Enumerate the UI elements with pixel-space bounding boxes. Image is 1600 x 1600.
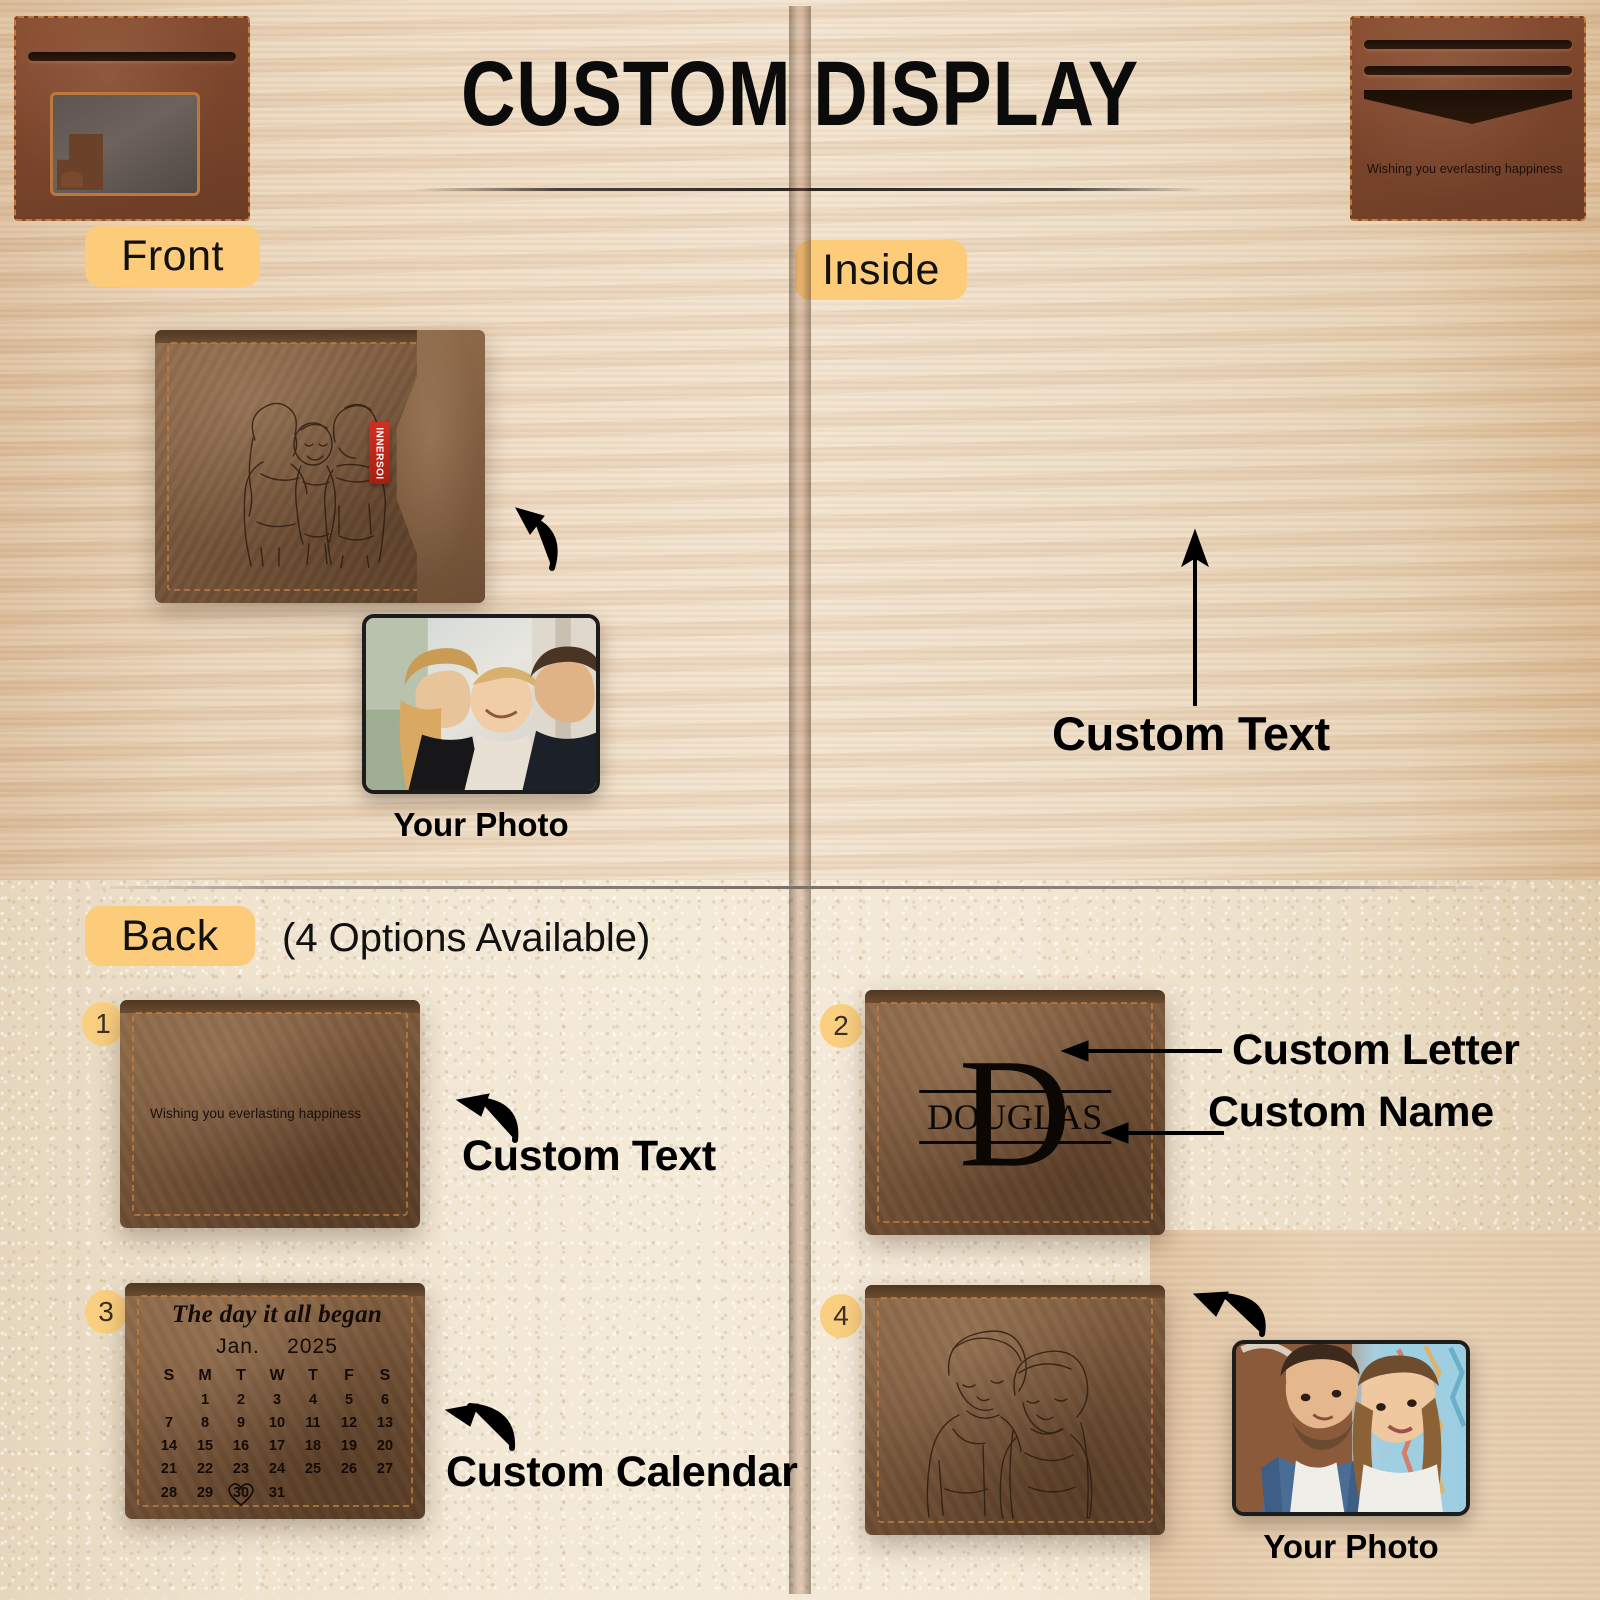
calendar-day: 14 xyxy=(151,1437,187,1455)
inside-engraved-text: Wishing you everlasting happiness xyxy=(1367,162,1563,176)
inside-callout-custom-text: Custom Text xyxy=(1052,706,1330,761)
engraved-couple-portrait xyxy=(905,1311,1113,1519)
arrow-custom-letter xyxy=(1062,1040,1222,1062)
calendar-day: 29 xyxy=(187,1484,223,1502)
calendar-day: 4 xyxy=(295,1391,331,1409)
calendar-day: 28 xyxy=(151,1484,187,1502)
card-slot xyxy=(1364,66,1572,75)
calendar-day: 10 xyxy=(259,1414,295,1432)
calendar-year: 2025 xyxy=(287,1335,338,1358)
calendar-month: Jan. xyxy=(216,1335,260,1358)
calendar-day: 22 xyxy=(187,1460,223,1478)
section-label-inside: Inside xyxy=(795,240,967,300)
calendar-day: 2 xyxy=(223,1391,259,1409)
calendar-month-year: Jan. 2025 xyxy=(151,1335,403,1359)
brand-tag: INNERSOI xyxy=(369,422,390,484)
section-divider xyxy=(85,886,1515,889)
calendar-day: 11 xyxy=(295,1414,331,1432)
brand-tag-label: INNERSOI xyxy=(374,427,385,479)
card-slot xyxy=(28,52,236,61)
section-label-front: Front xyxy=(85,225,260,287)
calendar-day: 17 xyxy=(259,1437,295,1455)
back-option-2-callout-letter: Custom Letter xyxy=(1232,1026,1520,1075)
inside-right-panel: Wishing you everlasting happiness xyxy=(1350,16,1586,221)
calendar-day: 9 xyxy=(223,1414,259,1432)
back-option-3-callout: Custom Calendar xyxy=(446,1448,798,1497)
back-option-1-wallet: Wishing you everlasting happiness xyxy=(120,1000,420,1228)
option-number-badge-1: 1 xyxy=(82,1002,124,1046)
calendar-day: 7 xyxy=(151,1414,187,1432)
inside-left-panel xyxy=(14,16,250,221)
calendar-dow: T xyxy=(295,1366,331,1386)
back-option-2-callout-name: Custom Name xyxy=(1208,1088,1494,1137)
calendar-day: 15 xyxy=(187,1437,223,1455)
back-option-1-callout: Custom Text xyxy=(462,1132,716,1181)
calendar-title: The day it all began xyxy=(151,1301,403,1329)
front-wallet-image: INNERSOI xyxy=(155,330,485,603)
back-options-note: (4 Options Available) xyxy=(282,916,650,961)
back-option-1-engraved-text: Wishing you everlasting happiness xyxy=(150,1106,361,1121)
arrow-photo-to-front-wallet xyxy=(500,492,570,572)
back-option-4-wallet xyxy=(865,1285,1165,1535)
calendar-day: 8 xyxy=(187,1414,223,1432)
calendar-day: 23 xyxy=(223,1460,259,1478)
calendar-day: 31 xyxy=(259,1484,295,1502)
wallet-spine xyxy=(789,6,811,1594)
calendar-dow: T xyxy=(223,1366,259,1386)
calendar-day: 16 xyxy=(223,1437,259,1455)
calendar-day: 25 xyxy=(295,1460,331,1478)
calendar-grid: SMTWTFS 12345678910111213141516171819202… xyxy=(151,1366,403,1502)
calendar-blank xyxy=(151,1391,187,1409)
arrow-custom-name xyxy=(1102,1122,1224,1144)
calendar-dow: M xyxy=(187,1366,223,1386)
calendar-day: 5 xyxy=(331,1391,367,1409)
engraved-calendar: The day it all began Jan. 2025 SMTWTFS 1… xyxy=(151,1301,403,1502)
arrow-inside-custom-text xyxy=(1178,528,1212,706)
calendar-day: 27 xyxy=(367,1460,403,1478)
option-number-badge-2: 2 xyxy=(820,1004,862,1048)
card-slot-notched xyxy=(1364,90,1572,124)
calendar-day: 20 xyxy=(367,1437,403,1455)
monogram-name-band: DOUGLAS xyxy=(919,1090,1111,1144)
option-number-badge-4: 4 xyxy=(820,1294,862,1338)
calendar-day: 21 xyxy=(151,1460,187,1478)
front-photo-caption: Your Photo xyxy=(362,806,600,844)
calendar-day: 26 xyxy=(331,1460,367,1478)
front-your-photo-card xyxy=(362,614,600,794)
calendar-dow: S xyxy=(367,1366,403,1386)
calendar-dow: S xyxy=(151,1366,187,1386)
calendar-dow: W xyxy=(259,1366,295,1386)
arrow-option-4 xyxy=(1184,1288,1270,1342)
calendar-dow: F xyxy=(331,1366,367,1386)
id-window xyxy=(50,92,200,196)
calendar-day-highlighted: 30 xyxy=(223,1484,259,1502)
calendar-day: 1 xyxy=(187,1391,223,1409)
option-number-badge-3: 3 xyxy=(85,1290,127,1334)
back-option-4-photo-caption: Your Photo xyxy=(1232,1528,1470,1566)
back-option-4-photo-card xyxy=(1232,1340,1470,1516)
monogram-name: DOUGLAS xyxy=(927,1096,1103,1138)
calendar-day: 3 xyxy=(259,1391,295,1409)
product-display-page: CUSTOM DISPLAY Front xyxy=(0,0,1600,1600)
calendar-day: 6 xyxy=(367,1391,403,1409)
back-option-2-wallet: D DOUGLAS xyxy=(865,990,1165,1235)
calendar-day: 18 xyxy=(295,1437,331,1455)
card-slot xyxy=(1364,40,1572,49)
section-label-back: Back xyxy=(85,906,255,966)
calendar-day: 24 xyxy=(259,1460,295,1478)
calendar-day: 12 xyxy=(331,1414,367,1432)
calendar-day: 19 xyxy=(331,1437,367,1455)
calendar-day: 13 xyxy=(367,1414,403,1432)
back-option-3-wallet: The day it all began Jan. 2025 SMTWTFS 1… xyxy=(125,1283,425,1519)
